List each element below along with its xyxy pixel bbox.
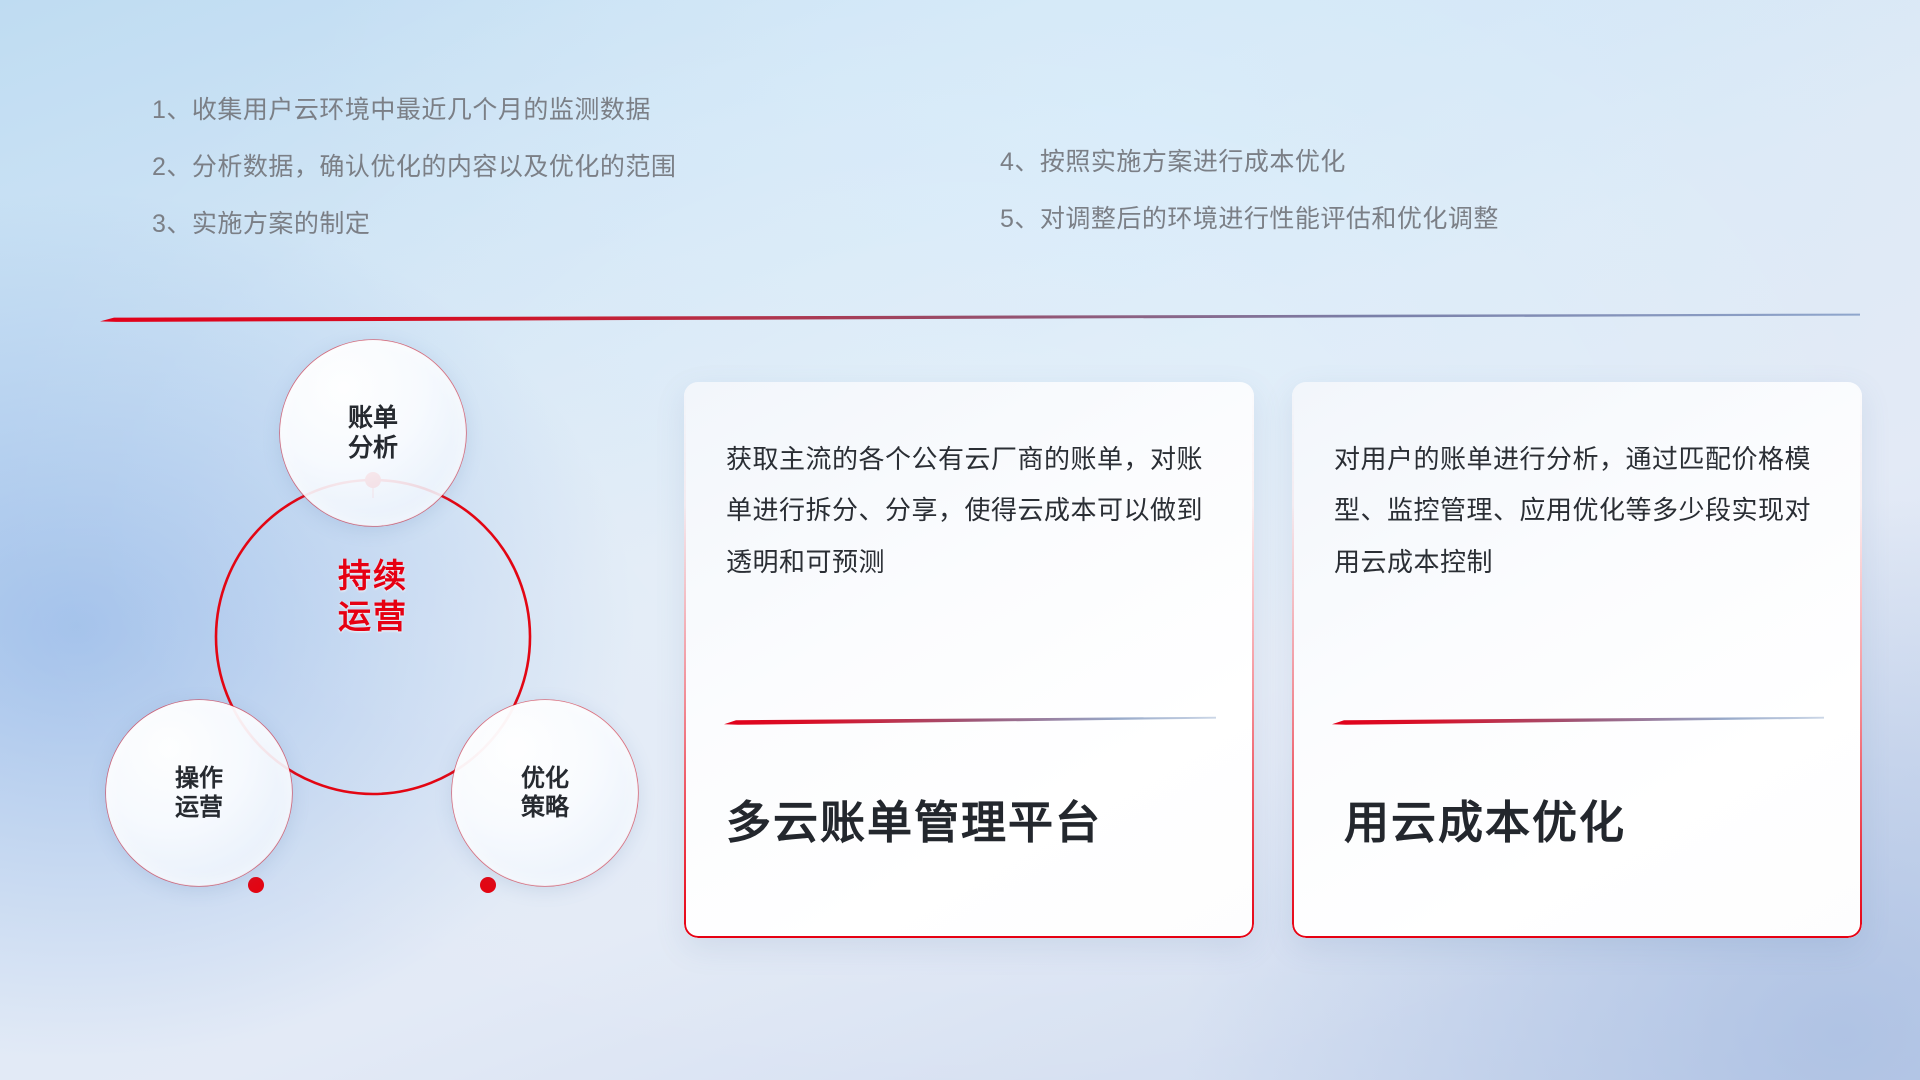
bubble-operation[interactable]: 操作 运营 — [106, 700, 292, 886]
steps-left-column: 1、收集用户云环境中最近几个月的监测数据 2、分析数据，确认优化的内容以及优化的… — [152, 98, 852, 237]
step-item: 3、实施方案的制定 — [152, 212, 852, 237]
card-title: 用云成本优化 — [1344, 786, 1832, 851]
center-label-line2: 运营 — [280, 596, 466, 637]
bubble-label-line2: 分析 — [348, 433, 398, 464]
diagram-center-label: 持续 运营 — [280, 555, 466, 638]
bubble-label-line2: 运营 — [175, 793, 223, 822]
steps-right-column: 4、按照实施方案进行成本优化 5、对调整后的环境进行性能评估和优化调整 — [1000, 150, 1760, 232]
node-dot-right — [480, 877, 496, 893]
card-divider-line — [724, 716, 1216, 725]
slide-canvas: 1、收集用户云环境中最近几个月的监测数据 2、分析数据，确认优化的内容以及优化的… — [0, 0, 1920, 1080]
card-body-text: 获取主流的各个公有云厂商的账单，对账单进行拆分、分享，使得云成本可以做到透明和可… — [726, 434, 1224, 588]
card-cloud-cost-optimization[interactable]: 对用户的账单进行分析，通过匹配价格模型、监控管理、应用优化等多少段实现对用云成本… — [1292, 382, 1862, 938]
bubble-label-line1: 优化 — [521, 764, 569, 793]
step-item: 1、收集用户云环境中最近几个月的监测数据 — [152, 98, 852, 123]
bubble-optimization-strategy[interactable]: 优化 策略 — [452, 700, 638, 886]
node-dot-left — [248, 877, 264, 893]
top-divider-line — [100, 313, 1860, 322]
card-title: 多云账单管理平台 — [726, 786, 1224, 851]
card-body-text: 对用户的账单进行分析，通过匹配价格模型、监控管理、应用优化等多少段实现对用云成本… — [1334, 434, 1832, 588]
bubble-label-line1: 账单 — [348, 403, 398, 434]
bubble-label-line2: 策略 — [521, 793, 569, 822]
step-item: 4、按照实施方案进行成本优化 — [1000, 150, 1760, 175]
card-divider-line — [1332, 716, 1824, 725]
center-label-line1: 持续 — [280, 555, 466, 596]
bubble-bill-analysis[interactable]: 账单 分析 — [280, 340, 466, 526]
step-item: 5、对调整后的环境进行性能评估和优化调整 — [1000, 207, 1760, 232]
card-multicloud-bill-platform[interactable]: 获取主流的各个公有云厂商的账单，对账单进行拆分、分享，使得云成本可以做到透明和可… — [684, 382, 1254, 938]
continuous-operation-diagram: 账单 分析 操作 运营 优化 策略 持续 运营 — [90, 340, 650, 960]
step-item: 2、分析数据，确认优化的内容以及优化的范围 — [152, 155, 852, 180]
bubble-label-line1: 操作 — [175, 764, 223, 793]
